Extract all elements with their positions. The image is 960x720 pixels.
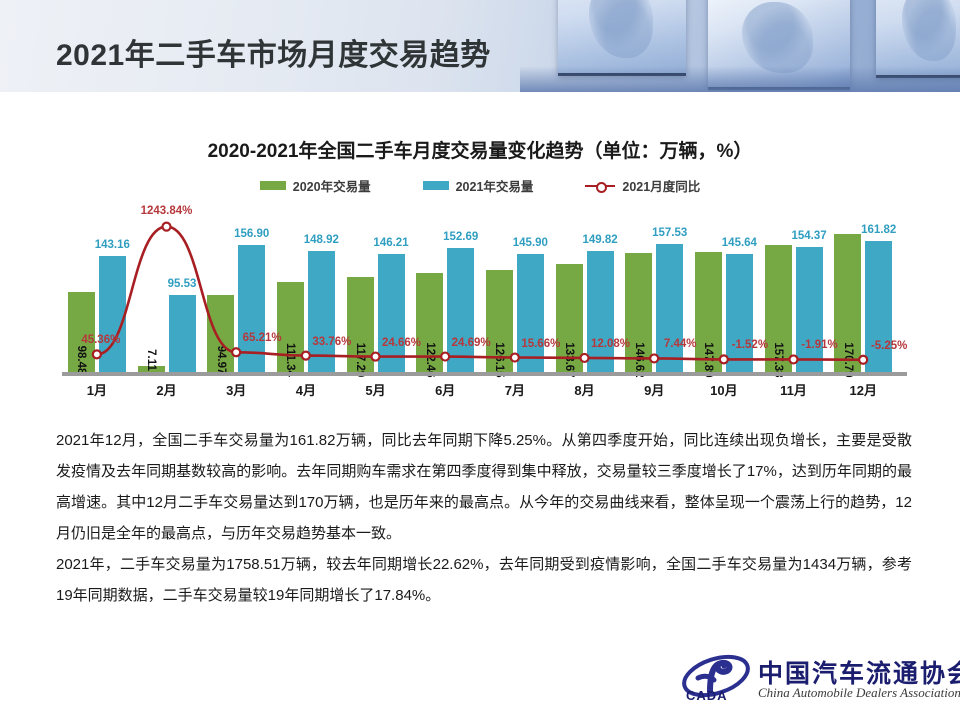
x-axis-tick-label: 7月 [480,380,550,399]
chart-legend: 2020年交易量 2021年交易量 2021月度同比 [0,176,960,195]
x-axis-tick-label: 4月 [271,380,341,399]
header-banner: 2021年二手车市场月度交易趋势 [0,0,960,92]
legend-item-2020[interactable]: 2020年交易量 [260,176,371,195]
yoy-percent-labels: 45.36%1243.84%65.21%33.76%24.66%24.69%15… [62,210,898,372]
decorative-cube [558,0,686,76]
yoy-value-label: -5.25% [871,340,907,352]
chart-title: 2020-2021年全国二手车月度交易量变化趋势（单位：万辆，%） [0,136,960,163]
yoy-value-label: 65.21% [243,332,282,344]
body-paragraph-1: 2021年12月，全国二手车交易量为161.82万辆，同比去年同期下降5.25%… [56,425,912,549]
legend-line-marker-icon [585,181,615,191]
logo-en-name: China Automobile Dealers Association [758,685,960,701]
x-axis-tick-label: 8月 [550,380,620,399]
legend-item-2021[interactable]: 2021年交易量 [423,176,534,195]
yoy-value-label: 45.36% [81,334,120,346]
chart-container: 2020-2021年全国二手车月度交易量变化趋势（单位：万辆，%） 2020年交… [0,92,960,407]
globe-map-texture [742,2,813,74]
x-axis-tick-label: 2月 [132,380,202,399]
yoy-value-label: 33.76% [312,336,351,348]
x-axis-labels: 1月2月3月4月5月6月7月8月9月10月11月12月 [62,380,898,399]
yoy-value-label: 15.66% [521,338,560,350]
x-axis-tick-label: 12月 [828,380,898,399]
legend-item-yoy[interactable]: 2021月度同比 [585,176,700,195]
globe-map-texture [589,0,653,58]
body-text: 2021年12月，全国二手车交易量为161.82万辆，同比去年同期下降5.25%… [56,425,912,611]
slide-root: 2021年二手车市场月度交易趋势 2020-2021年全国二手车月度交易量变化趋… [0,0,960,720]
cada-logo: CADA 中国汽车流通协会 China Automobile Dealers A… [680,652,948,712]
yoy-value-label: -1.91% [801,339,837,351]
legend-swatch-icon [423,181,449,190]
body-paragraph-2: 2021年，二手车交易量为1758.51万辆，较去年同期增长22.62%，去年同… [56,549,912,611]
x-axis-line [62,372,907,376]
yoy-value-label: 24.69% [452,337,491,349]
legend-label: 2021月度同比 [622,176,700,195]
yoy-value-label: 12.08% [591,338,630,350]
x-axis-tick-label: 11月 [759,380,829,399]
x-axis-tick-label: 1月 [62,380,132,399]
x-axis-tick-label: 6月 [410,380,480,399]
x-axis-tick-label: 3月 [201,380,271,399]
globe-map-texture [902,0,956,61]
yoy-value-label: -1.52% [732,339,768,351]
x-axis-tick-label: 10月 [689,380,759,399]
page-title: 2021年二手车市场月度交易趋势 [56,30,491,74]
legend-swatch-icon [260,181,286,190]
cada-abbr: CADA [686,688,728,703]
banner-floor-shadow [520,66,960,92]
yoy-value-label: 7.44% [664,338,697,350]
x-axis-tick-label: 9月 [619,380,689,399]
x-axis-tick-label: 5月 [341,380,411,399]
yoy-value-label: 1243.84% [141,205,193,217]
yoy-value-label: 24.66% [382,337,421,349]
legend-label: 2021年交易量 [456,176,534,195]
legend-label: 2020年交易量 [293,176,371,195]
